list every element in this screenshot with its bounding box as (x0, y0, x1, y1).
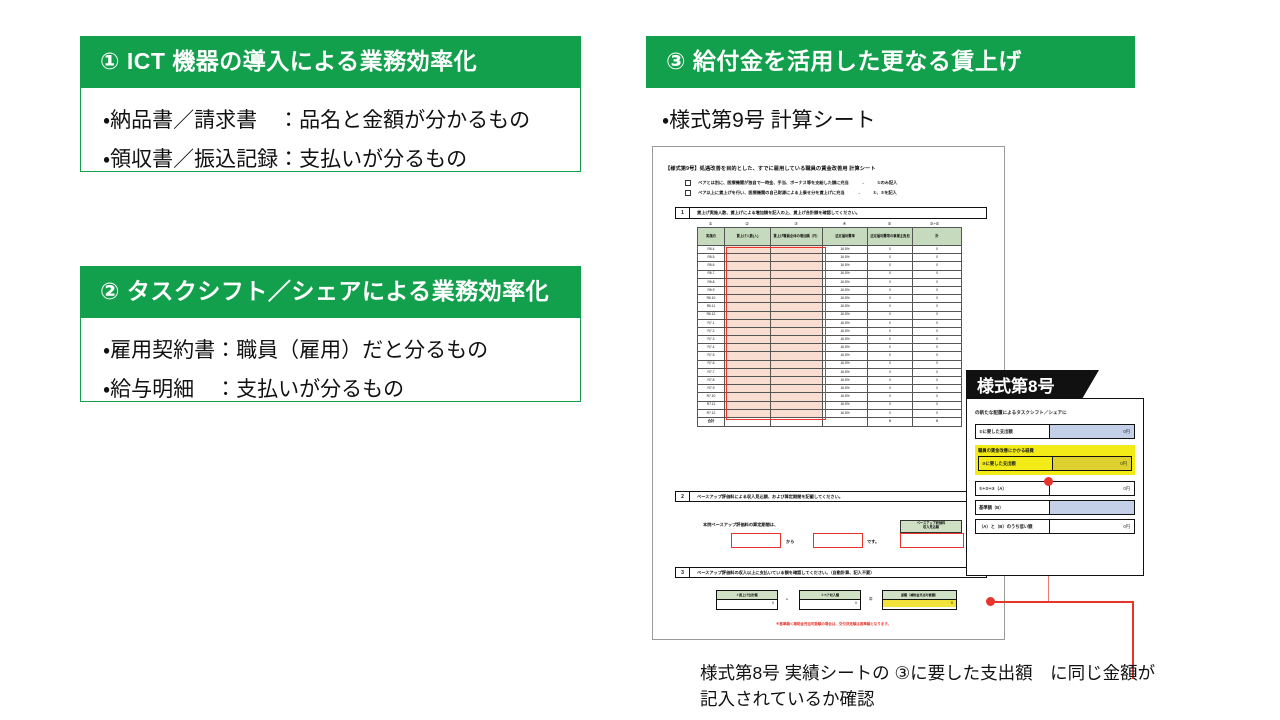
cell-people[interactable] (725, 270, 771, 278)
form9-table-row: R7.616.5%00 (698, 360, 962, 368)
cell-burden: 0 (868, 352, 913, 360)
connector-dot-popup (1044, 477, 1053, 486)
card-ict: ① ICT 機器の導入による業務効率化 ・納品書／請求書 ：品名と金額が分かるも… (80, 36, 581, 172)
cell-month: R6.10 (698, 295, 725, 303)
form8-row-expense2: ②に要した支出額 0円 (975, 424, 1135, 439)
form9-table-row: R7.1016.5%00 (698, 393, 962, 401)
cell-people[interactable] (725, 246, 771, 254)
cell-burden: 0 (868, 246, 913, 254)
form9-table-body: R6.416.5%00R6.516.5%00R6.616.5%00R6.716.… (698, 246, 962, 427)
form9-table-row: R7.216.5%00 (698, 327, 962, 335)
cell-amount[interactable] (771, 360, 823, 368)
colnum-6: ③+⑤ (912, 221, 957, 226)
card-taskshift-body: ・雇用契約書：職員（雇用）だと分るもの ・給与明細 ：支払いが分るもの (80, 318, 581, 402)
form9-sheet-title: 【様式第9号】処遇改善を目的とした、すでに雇用している職員の賃金改善用 計算シー… (665, 165, 876, 172)
cell-people[interactable] (725, 278, 771, 286)
card-ict-title: ① ICT 機器の導入による業務効率化 (80, 36, 581, 88)
cell-burden: 0 (868, 401, 913, 409)
cell-month: R6.4 (698, 246, 725, 254)
bottom-caption: 様式第8号 実績シートの ③に要した支出額 に同じ金額が 記入されているか確認 (700, 660, 1170, 713)
cell-amount[interactable] (771, 352, 823, 360)
card-ict-body: ・納品書／請求書 ：品名と金額が分かるもの ・領収書／振込記録：支払いが分るもの (80, 88, 581, 172)
form9-table-row: R7.716.5%00 (698, 368, 962, 376)
form9-s3-box2-value: 0 (800, 600, 860, 607)
form9-table-row: R6.1116.5%00 (698, 303, 962, 311)
cell-amount[interactable] (771, 254, 823, 262)
colnum-5: ⑤ (867, 221, 912, 226)
cell-month: R7.7 (698, 368, 725, 376)
cell-month: R6.7 (698, 270, 725, 278)
form9-step-2-number: 2 (675, 491, 690, 502)
cell-people[interactable] (725, 360, 771, 368)
cell-people[interactable] (725, 336, 771, 344)
form9-th-people: 賃上げ人数(人) (725, 228, 771, 246)
form9-check-1: ベアとは別に、医療機関が独自で一時金、手当、ボーナス等を支給した額に充当 → ①… (685, 180, 897, 186)
cell-people[interactable] (725, 352, 771, 360)
cell-month: R7.4 (698, 344, 725, 352)
cell-total-rate (823, 417, 868, 426)
cell-burden: 0 (868, 393, 913, 401)
form9-s3-box3-label: 差額（補助金充当可能額） (883, 591, 956, 600)
cell-month: R7.2 (698, 327, 725, 335)
form8-popup-body: の新たな配置によるタスクシフト／シェアに ②に要した支出額 0円 職員の賃金改善… (966, 398, 1144, 576)
form9-wage-table: 実施月 賃上げ人数(人) 賃上げ職員全体の増加額（円） 法定福利費率 法定福利費… (697, 227, 962, 427)
form8-row-expense3-label: ③に要した支出額 (979, 457, 1053, 470)
cell-amount[interactable] (771, 393, 823, 401)
cell-rate: 16.5% (823, 327, 868, 335)
cell-rate: 16.5% (823, 377, 868, 385)
cell-burden: 0 (868, 278, 913, 286)
cell-amount[interactable] (771, 336, 823, 344)
form9-table-row: R6.916.5%00 (698, 286, 962, 294)
cell-total: 0 (913, 303, 962, 311)
cell-rate: 16.5% (823, 393, 868, 401)
slide-root: ① ICT 機器の導入による業務効率化 ・納品書／請求書 ：品名と金額が分かるも… (0, 0, 1280, 720)
form9-th-month: 実施月 (698, 228, 725, 246)
cell-total: 0 (913, 270, 962, 278)
form9-table-row: R7.116.5%00 (698, 319, 962, 327)
cell-total: 0 (913, 262, 962, 270)
cell-rate: 16.5% (823, 319, 868, 327)
form9-table-row: R6.816.5%00 (698, 278, 962, 286)
cell-rate: 16.5% (823, 409, 868, 417)
cell-people[interactable] (725, 393, 771, 401)
form9-s3-box1: ①賃上げ合計額 0 (716, 590, 778, 610)
form9-s3-box1-value: 0 (717, 600, 777, 607)
form8-row-expense3-value: 0円 (1053, 457, 1131, 470)
cell-rate: 16.5% (823, 303, 868, 311)
form9-s3-box2-label: ②ベア収入額 (800, 591, 860, 600)
form9-step-3-text: ベースアップ評価料の収入以上に支払いている額を確認してください。（自動計算、記入… (690, 567, 987, 578)
card-taskshift-title: ② タスクシフト／シェアによる業務効率化 (80, 266, 581, 318)
form9-table-row: R7.316.5%00 (698, 336, 962, 344)
cell-month: R6.5 (698, 254, 725, 262)
form9-s2-from-label: から (786, 539, 794, 545)
form9-sheet: 【様式第9号】処遇改善を目的とした、すでに雇用している職員の賃金改善用 計算シー… (652, 146, 1005, 640)
cell-amount[interactable] (771, 368, 823, 376)
form9-th-rate: 法定福利費率 (823, 228, 868, 246)
cell-month: R6.6 (698, 262, 725, 270)
form9-check-2: ベア以上に賃上げを行い、医療機関の自己財源による上乗せ分を賃上げに充当 → ①、… (685, 190, 897, 196)
checkbox-icon[interactable] (685, 190, 691, 196)
cell-amount[interactable] (771, 327, 823, 335)
connector-line-horizontal (994, 601, 1134, 603)
cell-burden: 0 (868, 368, 913, 376)
form9-s2-income-input[interactable] (900, 533, 964, 548)
colnum-3: ③ (770, 221, 822, 226)
cell-amount[interactable] (771, 286, 823, 294)
cell-month: R6.9 (698, 286, 725, 294)
cell-rate: 16.5% (823, 385, 868, 393)
cell-month: R6.12 (698, 311, 725, 319)
form9-table-total-row: 合計00 (698, 417, 962, 426)
form9-step-1-number: 1 (675, 207, 690, 219)
colnum-4: ④ (822, 221, 867, 226)
cell-burden: 0 (868, 311, 913, 319)
cell-amount[interactable] (771, 319, 823, 327)
cell-burden: 0 (868, 286, 913, 294)
cell-rate: 16.5% (823, 295, 868, 303)
cell-people[interactable] (725, 311, 771, 319)
cell-amount[interactable] (771, 246, 823, 254)
cell-people[interactable] (725, 262, 771, 270)
form9-table-colnumbers: ① ② ③ ④ ⑤ ③+⑤ (697, 221, 961, 226)
cell-people[interactable] (725, 409, 771, 417)
cell-month: R7.5 (698, 352, 725, 360)
form9-table-row: R7.1216.5%00 (698, 409, 962, 417)
card-taskshift-bullet-2: ・給与明細 ：支払いが分るもの (103, 377, 562, 402)
form9-table-row: R7.916.5%00 (698, 385, 962, 393)
form9-s3-box2: ②ベア収入額 0 (799, 590, 861, 610)
form9-step-3-number: 3 (675, 567, 690, 578)
cell-total: 0 (913, 409, 962, 417)
cell-people[interactable] (725, 303, 771, 311)
form8-row-base: 基準額（B） (975, 500, 1135, 515)
form8-row-base-label: 基準額（B） (976, 501, 1050, 514)
card-taskshift: ② タスクシフト／シェアによる業務効率化 ・雇用契約書：職員（雇用）だと分るもの… (80, 266, 581, 402)
card-wageraise-title: ③ 給付金を活用した更なる賃上げ (646, 36, 1135, 88)
colnum-2: ② (724, 221, 770, 226)
cell-total: 0 (913, 336, 962, 344)
arrow-right-icon: → (850, 180, 876, 185)
form8-lead-text: の新たな配置によるタスクシフト／シェアに (975, 410, 1135, 416)
form9-th-burden: 法定福利費等の事業主負担 (868, 228, 913, 246)
form9-table-row: R7.816.5%00 (698, 377, 962, 385)
cell-burden: 0 (868, 360, 913, 368)
form9-table-row: R6.1216.5%00 (698, 311, 962, 319)
cell-people[interactable] (725, 401, 771, 409)
form9-check-1-result: ①のみ記入 (877, 180, 897, 185)
cell-rate: 16.5% (823, 360, 868, 368)
cell-rate: 16.5% (823, 286, 868, 294)
cell-rate: 16.5% (823, 344, 868, 352)
form8-highlight-band: 職員の賃金改善にかかる経費 ③に要した支出額 0円 (975, 445, 1135, 475)
form9-s2-date-from-input[interactable] (731, 533, 781, 548)
cell-rate: 16.5% (823, 311, 868, 319)
arrow-right-icon: → (846, 190, 872, 195)
cell-burden: 0 (868, 327, 913, 335)
form8-band-title: 職員の賃金改善にかかる経費 (978, 448, 1132, 454)
form9-check-2-result: ①、②を記入 (873, 190, 897, 195)
form9-s3-note: ※基準額＜補助金充当可能額の場合は、交付決定額は基準額となります。 (776, 622, 891, 627)
form9-th-total: 計 (913, 228, 962, 246)
form9-th-amount: 賃上げ職員全体の増加額（円） (771, 228, 823, 246)
cell-month: R6.8 (698, 278, 725, 286)
cell-people[interactable] (725, 385, 771, 393)
form9-check-2-text: ベア以上に賃上げを行い、医療機関の自己財源による上乗せ分を賃上げに充当 (698, 190, 844, 195)
cell-amount[interactable] (771, 311, 823, 319)
card-ict-bullet-1: ・納品書／請求書 ：品名と金額が分かるもの (103, 108, 562, 133)
cell-burden: 0 (868, 319, 913, 327)
cell-amount[interactable] (771, 385, 823, 393)
cell-burden: 0 (868, 409, 913, 417)
cell-total: 0 (913, 295, 962, 303)
cell-people[interactable] (725, 295, 771, 303)
cell-total: 0 (913, 278, 962, 286)
cell-month: R7.6 (698, 360, 725, 368)
cell-rate: 16.5% (823, 278, 868, 286)
form8-row-base-value (1050, 501, 1134, 514)
form8-row-sum-label: ①+②+③（A） (976, 482, 1050, 495)
form8-row-expense2-value: 0円 (1050, 425, 1134, 438)
form9-table-row: R6.416.5%00 (698, 246, 962, 254)
form9-bullet: ・様式第9号 計算シート (662, 104, 876, 134)
cell-amount[interactable] (771, 295, 823, 303)
cell-total: 0 (913, 352, 962, 360)
form9-s3-box1-label: ①賃上げ合計額 (717, 591, 777, 600)
form9-table-row: R6.716.5%00 (698, 270, 962, 278)
cell-total: 0 (913, 393, 962, 401)
cell-people[interactable] (725, 319, 771, 327)
form9-s3-box3-value: 0 (883, 600, 956, 607)
cell-total-people (725, 417, 771, 426)
cell-total: 0 (913, 311, 962, 319)
bottom-caption-line-1: 様式第8号 実績シートの ③に要した支出額 に同じ金額が (700, 660, 1170, 686)
form9-s3-operator-equals: = (869, 597, 873, 603)
form9-table-row: R6.1016.5%00 (698, 295, 962, 303)
cell-amount[interactable] (771, 377, 823, 385)
form9-s2-green-label-text: ベースアップ評価料 収入見込額 (901, 522, 961, 529)
cell-total: 0 (913, 360, 962, 368)
cell-rate: 16.5% (823, 262, 868, 270)
form9-s2-green-label: ベースアップ評価料 収入見込額 (900, 520, 962, 533)
form9-step-2-text: ベースアップ評価料による収入見込額、および算定期間を記載してください。 (690, 491, 987, 502)
form9-table-row: R6.516.5%00 (698, 254, 962, 262)
cell-total: 0 (913, 286, 962, 294)
cell-burden: 0 (868, 377, 913, 385)
cell-amount[interactable] (771, 344, 823, 352)
form9-table-row: R7.416.5%00 (698, 344, 962, 352)
form9-table-row: R7.516.5%00 (698, 352, 962, 360)
cell-month: R7.1 (698, 319, 725, 327)
cell-month: R7.3 (698, 336, 725, 344)
cell-rate: 16.5% (823, 270, 868, 278)
cell-total-total: 0 (913, 417, 962, 426)
card-taskshift-bullet-1: ・雇用契約書：職員（雇用）だと分るもの (103, 338, 562, 363)
form8-row-expense3: ③に要した支出額 0円 (978, 456, 1132, 471)
cell-people[interactable] (725, 368, 771, 376)
cell-total: 0 (913, 377, 962, 385)
cell-people[interactable] (725, 327, 771, 335)
card-wageraise: ③ 給付金を活用した更なる賃上げ (646, 36, 1135, 88)
cell-total-burden: 0 (868, 417, 913, 426)
cell-burden: 0 (868, 270, 913, 278)
cell-burden: 0 (868, 336, 913, 344)
form9-table-header-row: 実施月 賃上げ人数(人) 賃上げ職員全体の増加額（円） 法定福利費率 法定福利費… (698, 228, 962, 246)
cell-amount[interactable] (771, 262, 823, 270)
form9-step-1-text: 賃上げ実施人数、賃上げによる増加額を記入の上、賃上げ合計額を確認してください。 (690, 207, 987, 219)
form9-step-1: 1 賃上げ実施人数、賃上げによる増加額を記入の上、賃上げ合計額を確認してください… (675, 207, 987, 219)
cell-total: 0 (913, 401, 962, 409)
form9-s3-operator-minus: - (786, 597, 788, 603)
form8-row-lower: （A）と（B）のうち低い額 0円 (975, 519, 1135, 534)
cell-amount[interactable] (771, 303, 823, 311)
cell-month: R7.8 (698, 377, 725, 385)
cell-total: 0 (913, 319, 962, 327)
cell-month: R7.10 (698, 393, 725, 401)
cell-total: 0 (913, 246, 962, 254)
cell-burden: 0 (868, 254, 913, 262)
bottom-caption-line-2: 記入されているか確認 (700, 686, 1170, 712)
cell-total-amount (771, 417, 823, 426)
cell-amount[interactable] (771, 270, 823, 278)
cell-month: R7.9 (698, 385, 725, 393)
form9-table-row: R7.1116.5%00 (698, 401, 962, 409)
connector-dot-sheet (986, 597, 995, 606)
cell-burden: 0 (868, 344, 913, 352)
cell-amount[interactable] (771, 401, 823, 409)
cell-amount[interactable] (771, 278, 823, 286)
cell-total: 0 (913, 254, 962, 262)
form9-s2-date-to-input[interactable] (813, 533, 863, 548)
cell-burden: 0 (868, 295, 913, 303)
cell-burden: 0 (868, 262, 913, 270)
cell-amount[interactable] (771, 409, 823, 417)
cell-month: R6.11 (698, 303, 725, 311)
card-ict-bullet-2: ・領収書／振込記録：支払いが分るもの (103, 147, 562, 172)
form8-row-sum: ①+②+③（A） 0円 (975, 481, 1135, 496)
cell-rate: 16.5% (823, 368, 868, 376)
form9-s2-lead: 本院ベースアップ評価料の算定期間は、 (703, 522, 778, 528)
form8-popup: 様式第8号 の新たな配置によるタスクシフト／シェアに ②に要した支出額 0円 職… (966, 398, 1144, 576)
form9-s3-box3: 差額（補助金充当可能額） 0 (882, 590, 957, 610)
cell-rate: 16.5% (823, 336, 868, 344)
cell-month: R7.12 (698, 409, 725, 417)
form8-row-sum-value: 0円 (1050, 482, 1134, 495)
cell-month: R7.11 (698, 401, 725, 409)
checkbox-icon[interactable] (685, 180, 691, 186)
cell-rate: 16.5% (823, 246, 868, 254)
form8-row-expense2-label: ②に要した支出額 (976, 425, 1050, 438)
cell-total-label: 合計 (698, 417, 725, 426)
form9-step-3: 3 ベースアップ評価料の収入以上に支払いている額を確認してください。（自動計算、… (675, 567, 987, 578)
cell-people[interactable] (725, 254, 771, 262)
cell-burden: 0 (868, 385, 913, 393)
cell-people[interactable] (725, 377, 771, 385)
form9-check-1-text: ベアとは別に、医療機関が独自で一時金、手当、ボーナス等を支給した額に充当 (698, 180, 849, 185)
cell-people[interactable] (725, 344, 771, 352)
cell-rate: 16.5% (823, 352, 868, 360)
cell-burden: 0 (868, 303, 913, 311)
cell-rate: 16.5% (823, 401, 868, 409)
cell-rate: 16.5% (823, 254, 868, 262)
form8-row-lower-value: 0円 (1050, 520, 1134, 533)
colnum-1: ① (697, 221, 724, 226)
form8-row-lower-label: （A）と（B）のうち低い額 (976, 520, 1050, 533)
cell-total: 0 (913, 344, 962, 352)
form9-step-2: 2 ベースアップ評価料による収入見込額、および算定期間を記載してください。 (675, 491, 987, 502)
form9-s2-to-label: です。 (867, 539, 879, 545)
cell-people[interactable] (725, 286, 771, 294)
cell-total: 0 (913, 385, 962, 393)
form9-table-row: R6.616.5%00 (698, 262, 962, 270)
cell-total: 0 (913, 368, 962, 376)
cell-total: 0 (913, 327, 962, 335)
form8-popup-tab: 様式第8号 (966, 370, 1082, 399)
